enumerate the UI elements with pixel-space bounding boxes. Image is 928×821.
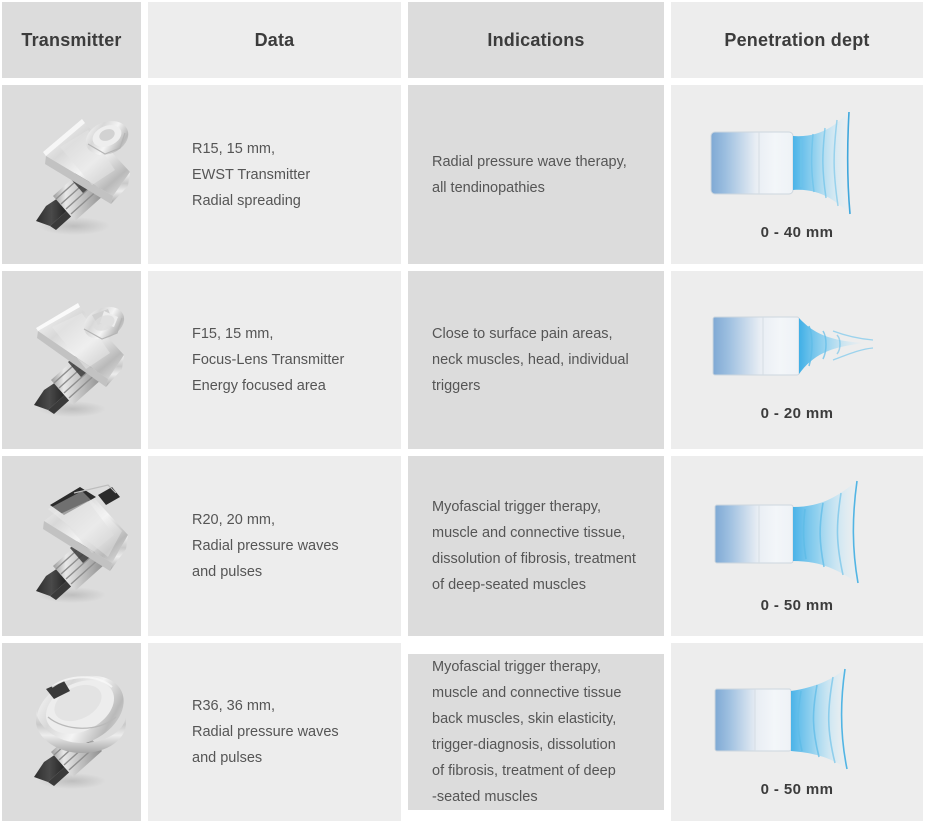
column-header-label: Indications bbox=[487, 30, 584, 51]
beam-diagram-broad-parallel-icon bbox=[697, 667, 897, 773]
indications-text: Myofascial trigger therapy, muscle and c… bbox=[430, 494, 636, 598]
column-header-indications: Indications bbox=[408, 2, 664, 78]
indications-text: Radial pressure wave therapy, all tendin… bbox=[430, 149, 627, 201]
table-row-4-penetration-cell: 0 - 50 mm bbox=[671, 643, 923, 821]
indications-text: Myofascial trigger therapy, muscle and c… bbox=[430, 654, 621, 810]
table-row-4-transmitter-image bbox=[2, 643, 141, 821]
table-row-1-data-cell: R15, 15 mm, EWST Transmitter Radial spre… bbox=[148, 85, 401, 264]
table-row-3-penetration-cell: 0 - 50 mm bbox=[671, 456, 923, 636]
table-row-1-transmitter-image bbox=[2, 85, 141, 264]
beam-diagram-wide-radial-icon bbox=[697, 479, 897, 589]
data-text: F15, 15 mm, Focus-Lens Transmitter Energ… bbox=[170, 321, 344, 399]
column-header-label: Penetration dept bbox=[724, 30, 869, 51]
column-header-label: Data bbox=[255, 30, 295, 51]
data-text: R15, 15 mm, EWST Transmitter Radial spre… bbox=[170, 136, 310, 214]
penetration-depth-label: 0 - 50 mm bbox=[761, 781, 834, 798]
table-row-2-data-cell: F15, 15 mm, Focus-Lens Transmitter Energ… bbox=[148, 271, 401, 449]
beam-diagram-narrow-focused-icon bbox=[697, 299, 897, 395]
table-row-2-transmitter-image bbox=[2, 271, 141, 449]
column-header-penetration-depth: Penetration dept bbox=[671, 2, 923, 78]
transmitter-head-f15-icon bbox=[12, 287, 132, 433]
transmitter-comparison-table: Transmitter Data Indications Penetration… bbox=[0, 0, 928, 801]
penetration-depth-label: 0 - 20 mm bbox=[761, 405, 834, 422]
transmitter-head-r20-icon bbox=[12, 471, 132, 621]
table-row-2-penetration-cell: 0 - 20 mm bbox=[671, 271, 923, 449]
column-header-data: Data bbox=[148, 2, 401, 78]
table-row-1-indications-cell: Radial pressure wave therapy, all tendin… bbox=[408, 85, 664, 264]
table-row-3-transmitter-image bbox=[2, 456, 141, 636]
column-header-transmitter: Transmitter bbox=[2, 2, 141, 78]
penetration-depth-label: 0 - 50 mm bbox=[761, 597, 834, 614]
transmitter-head-r15-icon bbox=[12, 100, 132, 250]
table-row-2-indications-cell: Close to surface pain areas, neck muscle… bbox=[408, 271, 664, 449]
indications-text: Close to surface pain areas, neck muscle… bbox=[430, 321, 629, 399]
transmitter-head-r36-icon bbox=[12, 659, 132, 805]
column-header-label: Transmitter bbox=[21, 30, 121, 51]
table-row-4-indications-cell: Myofascial trigger therapy, muscle and c… bbox=[408, 654, 664, 810]
table-row-3-indications-cell: Myofascial trigger therapy, muscle and c… bbox=[408, 456, 664, 636]
table-row-4-data-cell: R36, 36 mm, Radial pressure waves and pu… bbox=[148, 643, 401, 821]
data-text: R36, 36 mm, Radial pressure waves and pu… bbox=[170, 693, 339, 771]
penetration-depth-label: 0 - 40 mm bbox=[761, 224, 834, 241]
data-text: R20, 20 mm, Radial pressure waves and pu… bbox=[170, 507, 339, 585]
beam-diagram-wide-radial-icon bbox=[697, 108, 897, 218]
table-row-3-data-cell: R20, 20 mm, Radial pressure waves and pu… bbox=[148, 456, 401, 636]
table-row-1-penetration-cell: 0 - 40 mm bbox=[671, 85, 923, 264]
